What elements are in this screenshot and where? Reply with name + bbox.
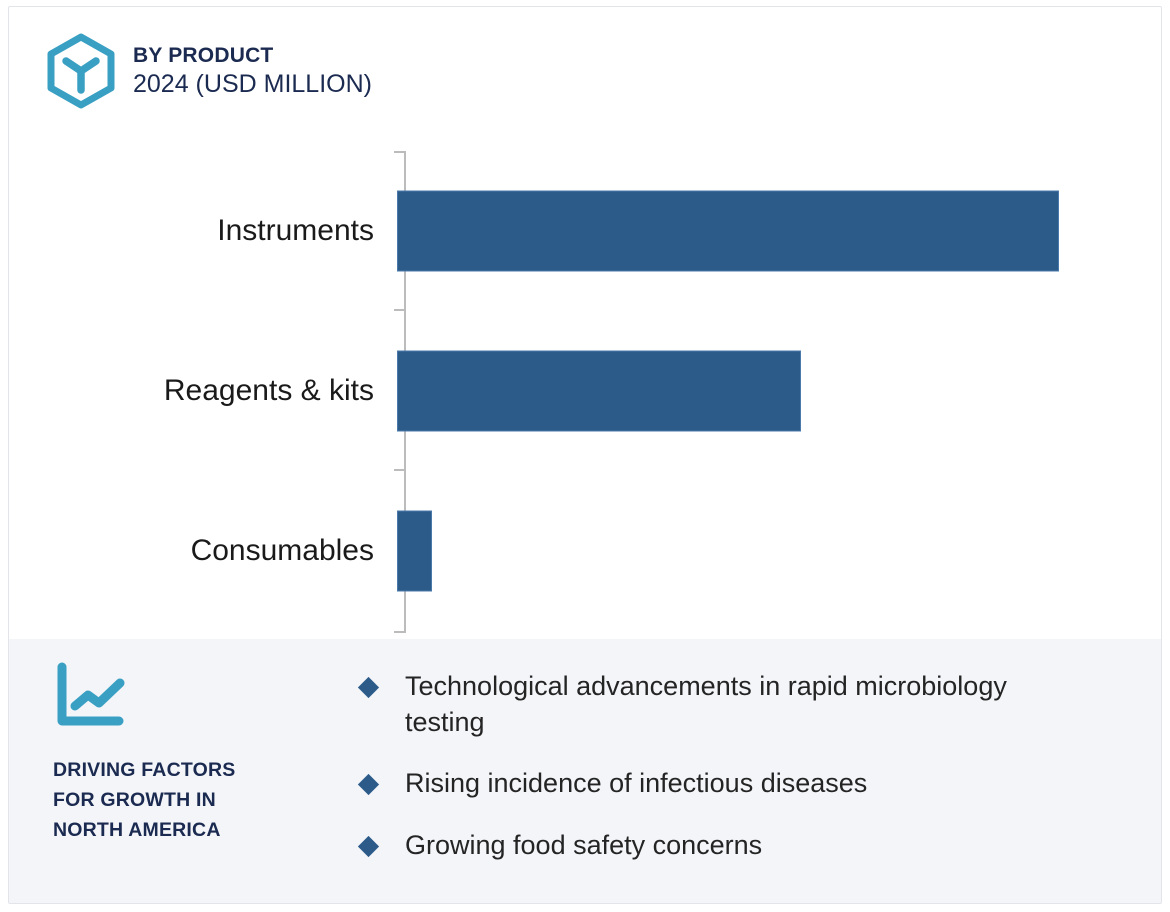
bar-instruments — [397, 191, 1059, 272]
driving-factors-list: Technological advancements in rapid micr… — [361, 669, 1123, 864]
hexagon-y-logo-icon — [45, 33, 117, 109]
panel-left-column: DRIVING FACTORS FOR GROWTH IN NORTH AMER… — [53, 661, 315, 846]
chart-row: Instruments — [9, 151, 1162, 311]
bar-track — [389, 471, 1162, 631]
panel-heading-line-3: NORTH AMERICA — [53, 815, 315, 845]
bar-consumables — [397, 511, 432, 592]
infographic-card: BY PRODUCT 2024 (USD MILLION) Instrument… — [8, 6, 1162, 904]
list-item: Technological advancements in rapid micr… — [361, 669, 1123, 740]
diamond-bullet-icon — [358, 774, 379, 795]
panel-heading-line-1: DRIVING FACTORS — [53, 755, 315, 785]
panel-heading-line-2: FOR GROWTH IN — [53, 785, 315, 815]
list-item-label: Rising incidence of infectious diseases — [405, 766, 867, 802]
panel-heading: DRIVING FACTORS FOR GROWTH IN NORTH AMER… — [53, 755, 315, 846]
list-item-label: Technological advancements in rapid micr… — [405, 669, 1045, 740]
bar-reagents-kits — [397, 351, 801, 432]
page-subtitle: 2024 (USD MILLION) — [133, 72, 372, 97]
category-label-reagents-kits: Reagents & kits — [9, 374, 389, 408]
list-item-label: Growing food safety concerns — [405, 828, 762, 864]
bar-track — [389, 311, 1162, 471]
diamond-bullet-icon — [358, 836, 379, 857]
header-title-block: BY PRODUCT 2024 (USD MILLION) — [133, 45, 372, 97]
list-item: Growing food safety concerns — [361, 828, 1123, 864]
chart-row: Reagents & kits — [9, 311, 1162, 471]
card-header: BY PRODUCT 2024 (USD MILLION) — [45, 33, 372, 109]
bar-track — [389, 151, 1162, 311]
driving-factors-panel: DRIVING FACTORS FOR GROWTH IN NORTH AMER… — [9, 639, 1162, 904]
bar-chart: Instruments Reagents & kits Consumables — [9, 147, 1162, 637]
category-label-instruments: Instruments — [9, 214, 389, 248]
diamond-bullet-icon — [358, 677, 379, 698]
chart-row: Consumables — [9, 471, 1162, 631]
page-title: BY PRODUCT — [133, 45, 372, 66]
category-label-consumables: Consumables — [9, 534, 389, 568]
line-chart-trend-icon — [53, 661, 127, 731]
list-item: Rising incidence of infectious diseases — [361, 766, 1123, 802]
